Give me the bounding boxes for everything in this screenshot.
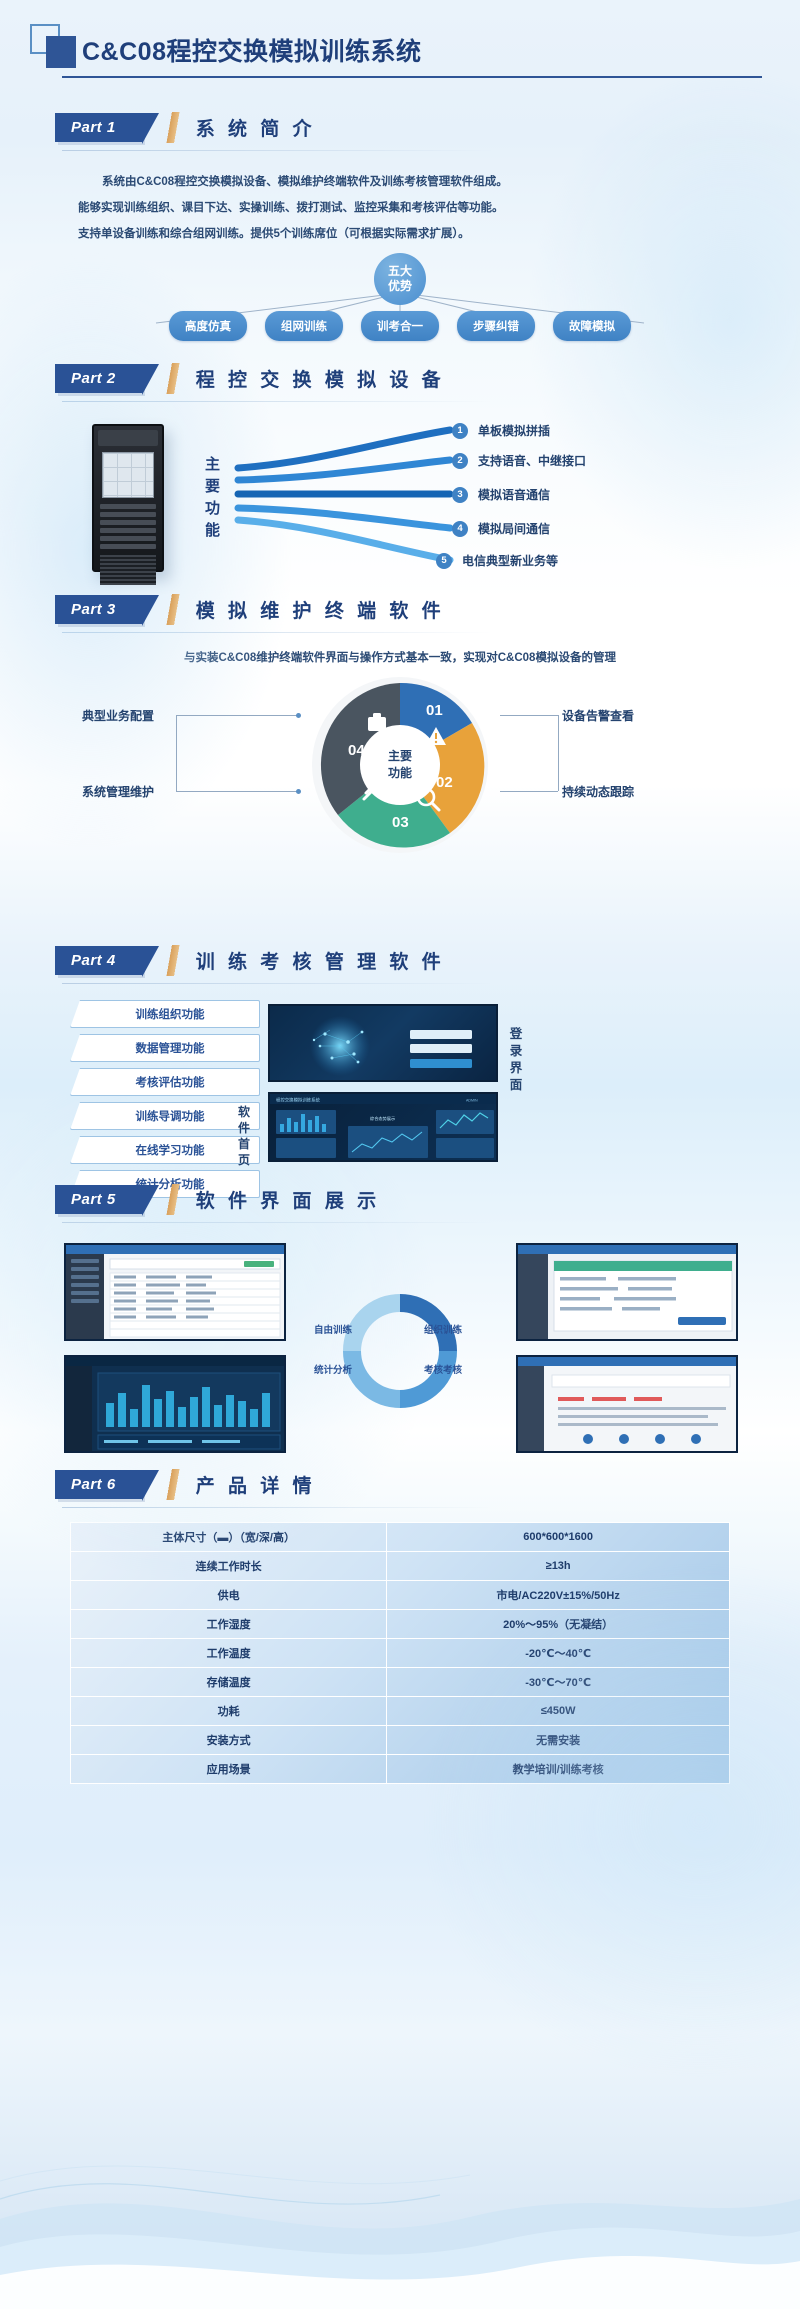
part3-label-bottom-right: 持续动态跟踪 <box>562 783 634 800</box>
masthead-rule <box>62 76 762 78</box>
screenshot-bottom-left <box>64 1355 286 1453</box>
advantages-row: 高度仿真 组网训练 训考合一 步骤纠错 故障模拟 <box>0 311 800 341</box>
spec-key: 安装方式 <box>71 1726 387 1755</box>
table-row: 连续工作时长 ≥13h <box>71 1552 730 1581</box>
function-label: 模拟语音通信 <box>478 486 550 503</box>
feature-item[interactable]: 考核评估功能 <box>70 1068 260 1096</box>
function-label: 单板模拟拼插 <box>478 422 550 439</box>
part3-label-top-right: 设备告警查看 <box>562 707 634 724</box>
spec-value: ≤450W <box>387 1697 730 1726</box>
part3-label-top-left: 典型业务配置 <box>82 707 154 724</box>
table-row: 工作湿度 20%～95%（无凝结） <box>71 1610 730 1639</box>
advantages-hub-line1: 五大 <box>388 264 412 278</box>
spec-value: -30℃～70℃ <box>387 1668 730 1697</box>
section-part-1: Part 1 系 统 简 介 系统由C&C08程控交换模拟设备、模拟维护终端软件… <box>0 112 800 345</box>
feature-item[interactable]: 训练组织功能 <box>70 1000 260 1028</box>
cabinet-top-panel <box>98 430 158 446</box>
donut-center-label: 主要 功能 <box>388 748 412 782</box>
part-title: 模 拟 维 护 终 端 软 件 <box>196 596 445 623</box>
function-number: 2 <box>452 453 468 469</box>
part2-center-label: 主 要 功 能 <box>196 454 230 542</box>
bottom-wave-decoration <box>0 2049 800 2309</box>
section-part-3: Part 3 模 拟 维 护 终 端 软 件 与实装C&C08维护终端软件界面与… <box>0 594 800 865</box>
advantages-diagram: 五大 优势 高度仿真 组网训练 训考合一 步骤纠错 故障模拟 <box>0 253 800 345</box>
cycle-ring-diagram <box>336 1287 464 1415</box>
advantages-hub-line2: 优势 <box>388 279 412 293</box>
function-label: 电信典型新业务等 <box>462 552 558 569</box>
spec-value: 600*600*1600 <box>387 1523 730 1552</box>
part-slash-icon <box>160 1184 186 1215</box>
part-slash-icon <box>160 945 186 976</box>
part-header: Part 5 软 件 界 面 展 示 <box>55 1184 800 1215</box>
part-title: 产 品 详 情 <box>196 1471 316 1498</box>
part2-diagram: 主 要 功 能 1 单板模拟拼插 2 支持语音、中继接口 3 模拟语音通信 <box>0 416 800 586</box>
part-title: 训 练 考 核 管 理 软 件 <box>196 947 445 974</box>
part1-paragraph: 能够实现训练组织、课目下达、实操训练、拨打测试、监控采集和考核评估等功能。 <box>78 195 738 221</box>
advantage-pill[interactable]: 训考合一 <box>361 311 439 341</box>
part-title: 软 件 界 面 展 示 <box>196 1186 380 1213</box>
spec-key: 连续工作时长 <box>71 1552 387 1581</box>
part-header: Part 3 模 拟 维 护 终 端 软 件 <box>55 594 800 625</box>
spec-value: -20℃～40℃ <box>387 1639 730 1668</box>
svg-text:程控交换模拟训练系统: 程控交换模拟训练系统 <box>276 1097 321 1104</box>
spec-value: ≥13h <box>387 1552 730 1581</box>
part3-diagram: 01 02 03 04 主要 功能 <box>0 675 800 865</box>
table-row: 存储温度 -30℃～70℃ <box>71 1668 730 1697</box>
table-row: 应用场景 教学培训/训练考核 <box>71 1755 730 1784</box>
function-number: 1 <box>452 423 468 439</box>
caption-char: 件 <box>236 1120 252 1136</box>
table-row: 安装方式 无需安装 <box>71 1726 730 1755</box>
spec-value: 市电/AC220V±15%/50Hz <box>387 1581 730 1610</box>
center-label-char: 能 <box>196 520 230 542</box>
part4-feature-list: 训练组织功能 数据管理功能 考核评估功能 训练导调功能 在线学习功能 统计分析功… <box>70 1000 260 1198</box>
svg-text:02: 02 <box>436 774 453 791</box>
part-underline <box>62 1507 492 1508</box>
caption-char: 登 <box>508 1026 524 1043</box>
table-row: 主体尺寸（▬）（宽/深/高） 600*600*1600 <box>71 1523 730 1552</box>
part4-content: 训练组织功能 数据管理功能 考核评估功能 训练导调功能 在线学习功能 统计分析功… <box>0 1000 800 1178</box>
spec-table: 主体尺寸（▬）（宽/深/高） 600*600*1600 连续工作时长 ≥13h … <box>70 1522 730 1784</box>
cabinet-slots <box>100 504 156 549</box>
advantages-hub: 五大 优势 <box>374 253 426 305</box>
spec-key: 工作湿度 <box>71 1610 387 1639</box>
part6-spec-table-wrap: 主体尺寸（▬）（宽/深/高） 600*600*1600 连续工作时长 ≥13h … <box>0 1522 800 1784</box>
part-badge: Part 6 <box>55 1470 142 1499</box>
ring-label-statistics: 统计分析 <box>314 1365 340 1376</box>
part-underline <box>62 983 492 984</box>
caption-char: 软 <box>236 1104 252 1120</box>
home-screen-caption: 软 件 首 页 <box>236 1104 252 1168</box>
part-badge: Part 3 <box>55 595 142 624</box>
feature-item[interactable]: 数据管理功能 <box>70 1034 260 1062</box>
page-title: C&C08程控交换模拟训练系统 <box>82 32 421 70</box>
masthead: C&C08程控交换模拟训练系统 <box>0 0 800 78</box>
feature-item[interactable]: 训练导调功能 <box>70 1102 260 1130</box>
section-part-2: Part 2 程 控 交 换 模 拟 设 备 <box>0 363 800 586</box>
part-header: Part 2 程 控 交 换 模 拟 设 备 <box>55 363 800 394</box>
spec-value: 无需安装 <box>387 1726 730 1755</box>
part-badge: Part 5 <box>55 1185 142 1214</box>
part-slash-icon <box>160 363 186 394</box>
part-title: 程 控 交 换 模 拟 设 备 <box>196 365 445 392</box>
part-underline <box>62 401 492 402</box>
spec-key: 供电 <box>71 1581 387 1610</box>
part1-paragraph: 支持单设备训练和综合组网训练。提供5个训练席位（可根据实际需求扩展）。 <box>78 221 738 247</box>
part-header: Part 1 系 统 简 介 <box>55 112 800 143</box>
part-underline <box>62 1222 492 1223</box>
function-item: 2 支持语音、中继接口 <box>452 452 586 469</box>
function-item: 5 电信典型新业务等 <box>436 552 558 569</box>
part1-description: 系统由C&C08程控交换模拟设备、模拟维护终端软件及训练考核管理软件组成。 能够… <box>0 169 800 247</box>
svg-text:04: 04 <box>348 742 365 759</box>
table-row: 功耗 ≤450W <box>71 1697 730 1726</box>
part-underline <box>62 150 492 151</box>
part-underline <box>62 632 492 633</box>
svg-text:01: 01 <box>426 702 443 719</box>
cabinet-vents <box>100 555 156 585</box>
function-number: 3 <box>452 487 468 503</box>
part3-connector <box>500 791 558 792</box>
function-label: 支持语音、中继接口 <box>478 452 586 469</box>
part1-paragraph: 系统由C&C08程控交换模拟设备、模拟维护终端软件及训练考核管理软件组成。 <box>78 169 738 195</box>
screenshot-bottom-right <box>516 1355 738 1453</box>
poster-page: C&C08程控交换模拟训练系统 Part 1 系 统 简 介 系统由C&C08程… <box>0 0 800 2309</box>
square-solid-icon <box>46 36 76 68</box>
function-item: 3 模拟语音通信 <box>452 486 550 503</box>
function-label: 模拟局间通信 <box>478 520 550 537</box>
screenshot-top-right <box>516 1243 738 1341</box>
center-label-char: 功 <box>196 498 230 520</box>
caption-char: 界 <box>508 1060 524 1077</box>
table-row: 工作温度 -20℃～40℃ <box>71 1639 730 1668</box>
function-number: 5 <box>436 553 452 569</box>
table-row: 供电 市电/AC220V±15%/50Hz <box>71 1581 730 1610</box>
advantage-pill[interactable]: 故障模拟 <box>553 311 631 341</box>
spec-key: 功耗 <box>71 1697 387 1726</box>
part3-connector-dot <box>296 789 301 794</box>
caption-char: 页 <box>236 1152 252 1168</box>
part3-connector <box>176 715 300 716</box>
spec-key: 主体尺寸（▬）（宽/深/高） <box>71 1523 387 1552</box>
part3-connector <box>500 715 558 716</box>
svg-text:ADMIN: ADMIN <box>466 1099 478 1103</box>
advantage-pill[interactable]: 步骤纠错 <box>457 311 535 341</box>
screenshot-top-left <box>64 1243 286 1341</box>
part-slash-icon <box>160 1469 186 1500</box>
logo-mark <box>30 22 82 70</box>
function-item: 1 单板模拟拼插 <box>452 422 550 439</box>
svg-text:03: 03 <box>392 814 409 831</box>
spec-value: 教学培训/训练考核 <box>387 1755 730 1784</box>
part3-connector-vertical <box>558 715 559 791</box>
part3-connector <box>176 791 300 792</box>
advantage-pill[interactable]: 组网训练 <box>265 311 343 341</box>
function-donut: 01 02 03 04 主要 功能 <box>310 675 490 855</box>
login-screen-caption: 登 录 界 面 <box>508 1026 524 1094</box>
section-part-6: Part 6 产 品 详 情 主体尺寸（▬）（宽/深/高） 600*600*16… <box>0 1469 800 1784</box>
function-number: 4 <box>452 521 468 537</box>
caption-char: 录 <box>508 1043 524 1060</box>
ring-label-assessment: 考核考核 <box>424 1365 450 1376</box>
section-part-5: Part 5 软 件 界 面 展 示 <box>0 1184 800 1465</box>
center-label-char: 主 <box>196 454 230 476</box>
donut-center-line2: 功能 <box>388 766 412 780</box>
part-badge: Part 2 <box>55 364 142 393</box>
part3-lead-text: 与实装C&C08维护终端软件界面与操作方式基本一致，实现对C&C08模拟设备的管… <box>0 649 800 665</box>
part-header: Part 6 产 品 详 情 <box>55 1469 800 1500</box>
spec-value: 20%～95%（无凝结） <box>387 1610 730 1639</box>
svg-text:综合态势展示: 综合态势展示 <box>370 1115 395 1122</box>
section-part-4: Part 4 训 练 考 核 管 理 软 件 训练组织功能 数据管理功能 考核评… <box>0 945 800 1178</box>
login-screen-preview <box>268 1004 498 1082</box>
ring-label-free-training: 自由训练 <box>314 1325 340 1336</box>
feature-item[interactable]: 在线学习功能 <box>70 1136 260 1164</box>
center-label-char: 要 <box>196 476 230 498</box>
cabinet-screen <box>102 452 154 498</box>
donut-center-line1: 主要 <box>388 749 412 763</box>
spec-key: 存储温度 <box>71 1668 387 1697</box>
caption-char: 面 <box>508 1077 524 1094</box>
part-header: Part 4 训 练 考 核 管 理 软 件 <box>55 945 800 976</box>
part5-gallery: 自由训练 组织训练 统计分析 考核考核 <box>0 1237 800 1465</box>
part-badge: Part 4 <box>55 946 142 975</box>
part-badge: Part 1 <box>55 113 142 142</box>
part4-screenshots: 程控交换模拟训练系统 ADMIN <box>268 1004 498 1162</box>
spec-key: 应用场景 <box>71 1755 387 1784</box>
part-slash-icon <box>160 112 186 143</box>
part3-connector-vertical <box>176 715 177 791</box>
switch-cabinet-illustration <box>92 424 164 572</box>
spec-key: 工作温度 <box>71 1639 387 1668</box>
function-item: 4 模拟局间通信 <box>452 520 550 537</box>
ring-label-organized-training: 组织训练 <box>424 1325 450 1336</box>
advantage-pill[interactable]: 高度仿真 <box>169 311 247 341</box>
part-slash-icon <box>160 594 186 625</box>
caption-char: 首 <box>236 1136 252 1152</box>
part-title: 系 统 简 介 <box>196 114 316 141</box>
part3-label-bottom-left: 系统管理维护 <box>82 783 154 800</box>
home-screen-preview: 程控交换模拟训练系统 ADMIN <box>268 1092 498 1162</box>
part3-connector-dot <box>296 713 301 718</box>
